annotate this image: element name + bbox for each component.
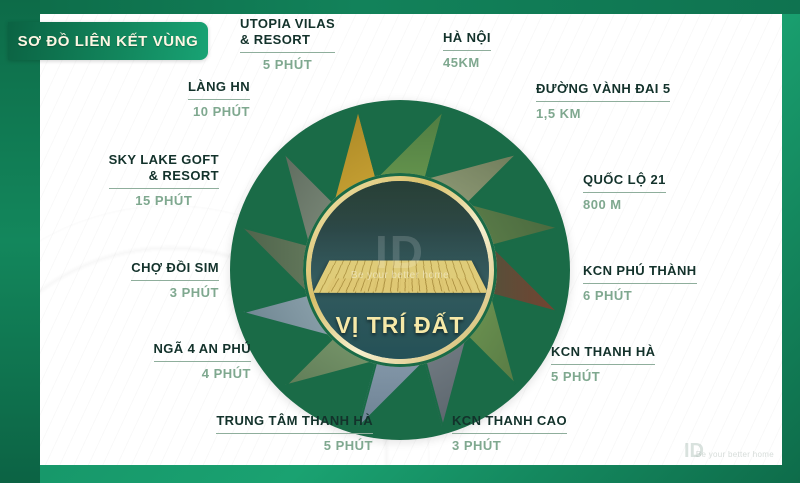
callout-value: 5 PHÚT <box>216 438 373 454</box>
callout-rule <box>551 364 655 365</box>
callout-title: UTOPIA VILAS & RESORT <box>240 16 335 48</box>
callout-value: 5 PHÚT <box>551 369 655 385</box>
callout-title: HÀ NỘI <box>443 30 491 46</box>
callout-kcn-thanh-cao: KCN THANH CAO 3 PHÚT <box>452 413 567 453</box>
callout-utopia: UTOPIA VILAS & RESORT 5 PHÚT <box>240 16 335 72</box>
callout-trung-tam-thanh-ha: TRUNG TÂM THANH HÀ 5 PHÚT <box>216 413 373 453</box>
callout-value: 3 PHÚT <box>131 285 219 301</box>
callout-rule <box>131 280 219 281</box>
callout-rule <box>583 192 666 193</box>
corner-watermark-tagline: Be your better home <box>696 450 774 459</box>
callout-rule <box>583 283 697 284</box>
callout-title: QUỐC LỘ 21 <box>583 172 666 188</box>
top-frame-bar <box>0 0 800 14</box>
wheel-hub: ID Be your better home VỊ TRÍ ĐẤT <box>311 181 489 359</box>
callout-rule <box>216 433 373 434</box>
callout-title: KCN THANH HÀ <box>551 344 655 360</box>
callout-value: 45KM <box>443 55 491 71</box>
callout-title-line2: & RESORT <box>109 168 219 184</box>
hub-watermark-tagline: Be your better home <box>311 270 489 281</box>
callout-value: 6 PHÚT <box>583 288 697 304</box>
callout-title: TRUNG TÂM THANH HÀ <box>216 413 373 429</box>
left-frame-bar <box>0 0 40 483</box>
callout-lang-hn: LÀNG HN 10 PHÚT <box>188 79 250 119</box>
callout-title-line1: SKY LAKE GOFT <box>109 152 219 168</box>
callout-value: 10 PHÚT <box>188 104 250 120</box>
callout-rule <box>188 99 250 100</box>
callout-title: SKY LAKE GOFT & RESORT <box>109 152 219 184</box>
callout-cho-doi-sim: CHỢ ĐỒI SIM 3 PHÚT <box>131 260 219 300</box>
callout-kcn-phu-thanh: KCN PHÚ THÀNH 6 PHÚT <box>583 263 697 303</box>
callout-value: 5 PHÚT <box>240 57 335 73</box>
callout-kcn-thanh-ha: KCN THANH HÀ 5 PHÚT <box>551 344 655 384</box>
callout-vanh-dai-5: ĐƯỜNG VÀNH ĐAI 5 1,5 KM <box>536 81 670 121</box>
callout-quoc-lo-21: QUỐC LỘ 21 800 M <box>583 172 666 212</box>
callout-rule <box>109 188 219 189</box>
callout-title: NGÃ 4 AN PHÚ <box>154 341 252 357</box>
callout-title: LÀNG HN <box>188 79 250 95</box>
callout-title-line1: UTOPIA VILAS <box>240 16 335 32</box>
callout-sky-lake: SKY LAKE GOFT & RESORT 15 PHÚT <box>109 152 219 208</box>
header-badge-label: SƠ ĐỒ LIÊN KẾT VÙNG <box>18 33 199 50</box>
callout-value: 800 M <box>583 197 666 213</box>
callout-hanoi: HÀ NỘI 45KM <box>443 30 491 70</box>
callout-value: 1,5 KM <box>536 106 670 122</box>
callout-rule <box>240 52 335 53</box>
region-wheel: ID Be your better home VỊ TRÍ ĐẤT <box>230 100 570 440</box>
callout-title: ĐƯỜNG VÀNH ĐAI 5 <box>536 81 670 97</box>
callout-rule <box>443 50 491 51</box>
poster-root: SƠ ĐỒ LIÊN KẾT VÙNG ID Be your better ho… <box>0 0 800 483</box>
callout-title: CHỢ ĐỒI SIM <box>131 260 219 276</box>
callout-nga-4-an-phu: NGÃ 4 AN PHÚ 4 PHÚT <box>154 341 252 381</box>
callout-rule <box>154 361 252 362</box>
callout-title: KCN THANH CAO <box>452 413 567 429</box>
callout-title-line2: & RESORT <box>240 32 335 48</box>
callout-rule <box>452 433 567 434</box>
callout-title: KCN PHÚ THÀNH <box>583 263 697 279</box>
callout-rule <box>536 101 670 102</box>
header-badge: SƠ ĐỒ LIÊN KẾT VÙNG <box>8 22 208 60</box>
callout-value: 15 PHÚT <box>109 193 219 209</box>
callout-value: 3 PHÚT <box>452 438 567 454</box>
hub-label: VỊ TRÍ ĐẤT <box>336 312 465 339</box>
callout-value: 4 PHÚT <box>154 366 252 382</box>
